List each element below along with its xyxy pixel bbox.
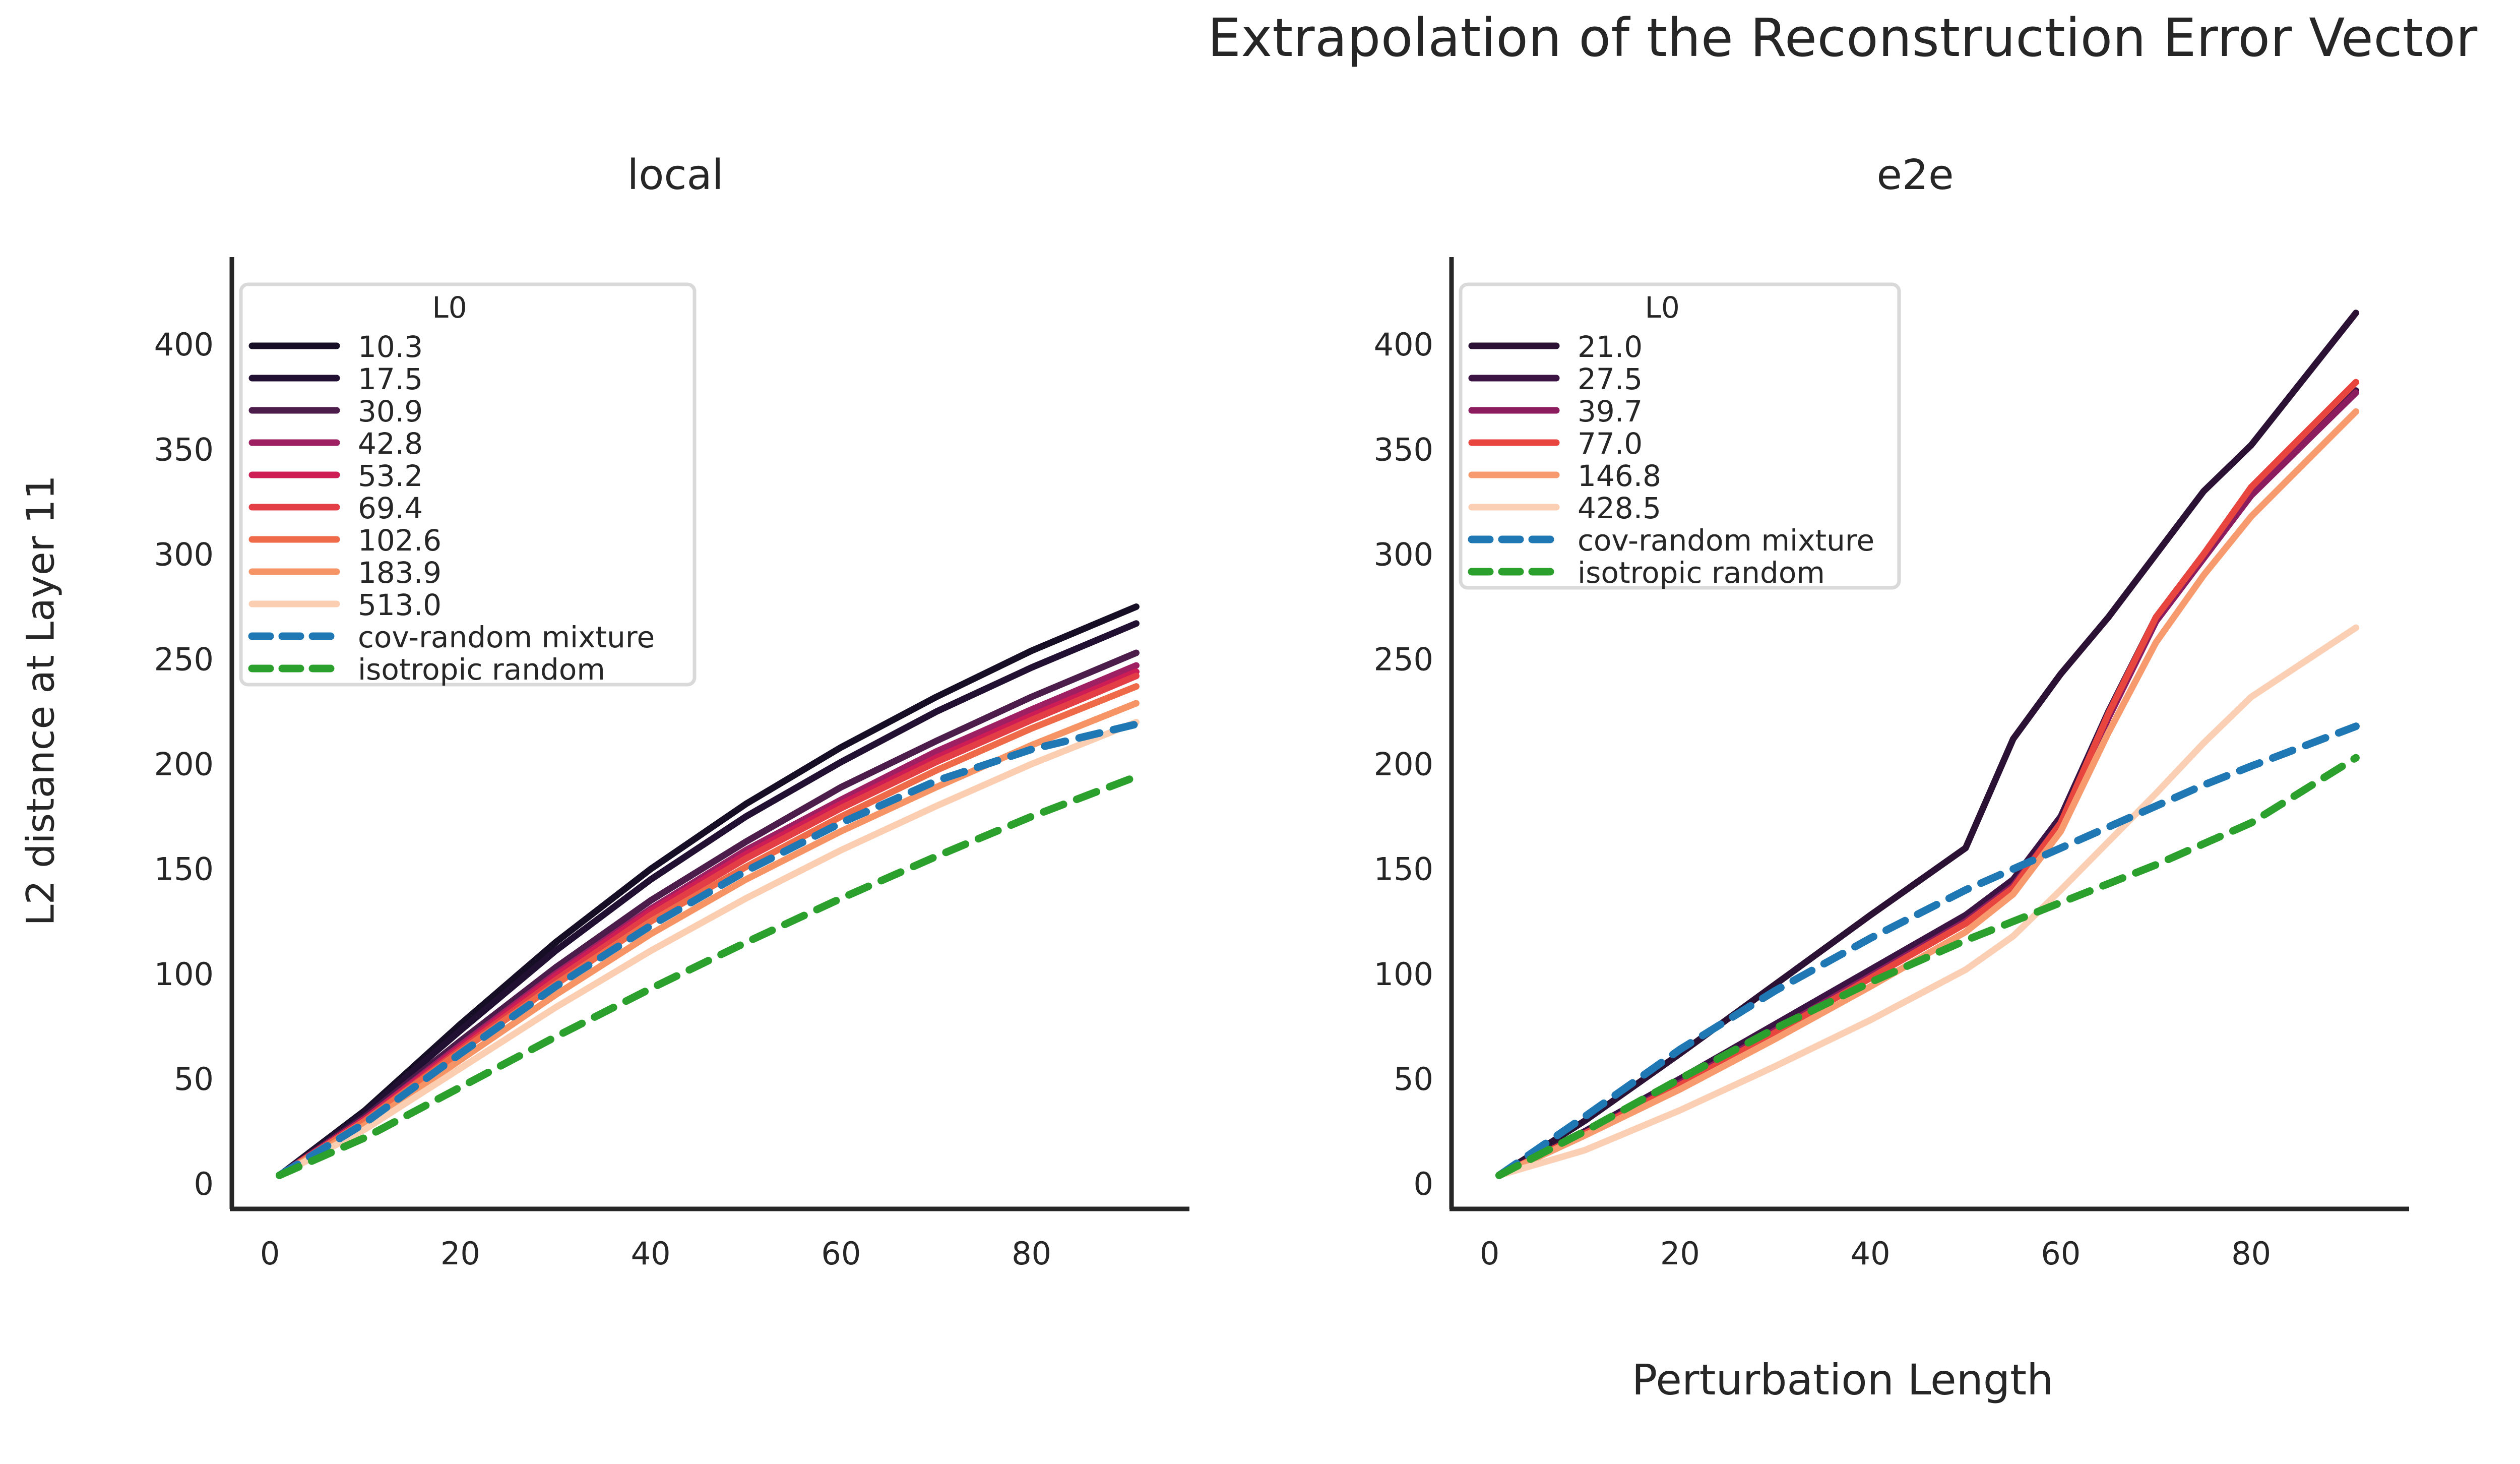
series-line-isotropic-random bbox=[279, 777, 1136, 1176]
y-tick-label: 50 bbox=[1394, 1061, 1433, 1097]
y-tick-label: 250 bbox=[1374, 641, 1433, 678]
y-tick-label: 150 bbox=[1374, 851, 1433, 888]
chart-canvas: 050100150200250300350400020406080L010.31… bbox=[0, 0, 2520, 1464]
y-tick-label: 0 bbox=[194, 1166, 214, 1202]
legend-label: 146.8 bbox=[1578, 459, 1661, 493]
y-tick-label: 150 bbox=[154, 851, 214, 888]
y-tick-label: 200 bbox=[154, 746, 214, 783]
legend-label: 69.4 bbox=[358, 491, 423, 525]
y-tick-label: 50 bbox=[174, 1061, 214, 1097]
y-tick-label: 350 bbox=[1374, 431, 1433, 468]
x-tick-label: 20 bbox=[1660, 1235, 1700, 1272]
y-tick-label: 250 bbox=[154, 641, 214, 678]
series-line-cov-random-mixture bbox=[279, 724, 1136, 1176]
legend-label: 30.9 bbox=[358, 394, 423, 429]
x-tick-label: 0 bbox=[260, 1235, 280, 1272]
legend-title: L0 bbox=[432, 290, 467, 325]
x-tick-label: 60 bbox=[2041, 1235, 2081, 1272]
legend-label: 513.0 bbox=[358, 588, 442, 622]
legend-title: L0 bbox=[1645, 290, 1680, 325]
y-tick-label: 0 bbox=[1414, 1166, 1433, 1202]
legend-label: 42.8 bbox=[358, 426, 423, 461]
y-tick-label: 400 bbox=[154, 326, 214, 363]
legend-label: 53.2 bbox=[358, 459, 423, 493]
y-tick-label: 400 bbox=[1374, 326, 1433, 363]
x-tick-label: 0 bbox=[1480, 1235, 1499, 1272]
legend-label: 39.7 bbox=[1578, 394, 1643, 429]
panel-group-local: 050100150200250300350400020406080L010.31… bbox=[154, 257, 1189, 1272]
x-tick-label: 40 bbox=[631, 1235, 671, 1272]
y-axis-label: L2 distance at Layer 11 bbox=[18, 272, 63, 1129]
y-tick-label: 100 bbox=[1374, 956, 1433, 993]
legend-label: 10.3 bbox=[358, 330, 423, 364]
y-tick-label: 200 bbox=[1374, 746, 1433, 783]
x-axis-label: Perturbation Length bbox=[0, 1355, 2520, 1405]
legend-label: 21.0 bbox=[1578, 330, 1643, 364]
legend-label: 428.5 bbox=[1578, 491, 1661, 525]
legend-label: isotropic random bbox=[358, 652, 605, 687]
legend-label: isotropic random bbox=[1578, 556, 1825, 590]
y-tick-label: 100 bbox=[154, 956, 214, 993]
legend-label: 102.6 bbox=[358, 523, 442, 558]
legend-label: 27.5 bbox=[1578, 362, 1643, 396]
series-line-513-0 bbox=[279, 722, 1136, 1175]
legend-label: cov-random mixture bbox=[358, 620, 655, 654]
legend-label: 183.9 bbox=[358, 556, 442, 590]
legend-label: 17.5 bbox=[358, 362, 423, 396]
legend-label: cov-random mixture bbox=[1578, 523, 1874, 558]
x-tick-label: 20 bbox=[440, 1235, 480, 1272]
x-tick-label: 60 bbox=[821, 1235, 861, 1272]
figure-root: Extrapolation of the Reconstruction Erro… bbox=[0, 0, 2520, 1464]
y-tick-label: 300 bbox=[154, 536, 214, 573]
y-tick-label: 350 bbox=[154, 431, 214, 468]
x-tick-label: 80 bbox=[2231, 1235, 2271, 1272]
y-tick-label: 300 bbox=[1374, 536, 1433, 573]
legend-label: 77.0 bbox=[1578, 426, 1643, 461]
x-tick-label: 40 bbox=[1851, 1235, 1891, 1272]
panel-group-e2e: 050100150200250300350400020406080L021.02… bbox=[1374, 257, 2409, 1272]
x-tick-label: 80 bbox=[1012, 1235, 1051, 1272]
